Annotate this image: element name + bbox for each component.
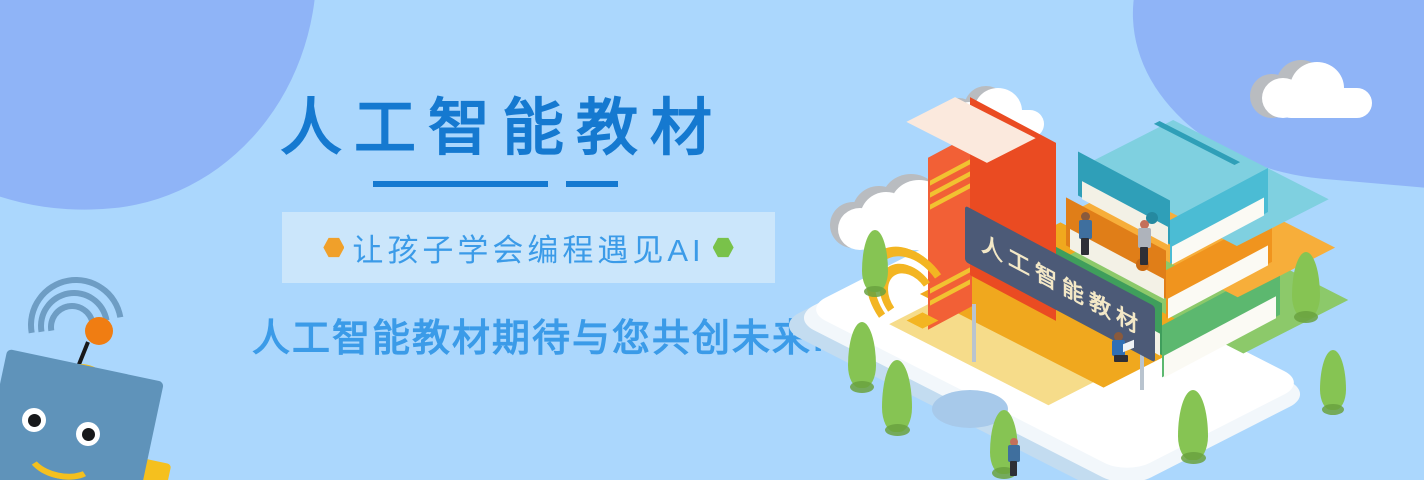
robot-icon xyxy=(0,246,190,480)
sign-leg-left xyxy=(972,304,976,362)
robot-pupil-left xyxy=(28,414,41,427)
divider-gap xyxy=(548,181,566,187)
hexagon-orange-icon xyxy=(323,237,344,258)
hexagon-green-icon xyxy=(713,237,734,258)
tagline-text: 人工智能教材期待与您共创未来! xyxy=(252,320,852,358)
subtitle-banner: 让孩子学会编程遇见AI xyxy=(282,212,775,283)
page-title: 人工智能教材 xyxy=(280,98,750,160)
cloud-icon xyxy=(1250,56,1390,126)
subtitle-text: 让孩子学会编程遇见AI xyxy=(344,225,712,270)
isometric-illustration: 人工智能教材 xyxy=(820,60,1424,480)
robot-antenna-ball xyxy=(85,317,113,345)
hero-banner: 人工智能教材 让孩子学会编程遇见AI 人工智能教材期待与您共创未来! xyxy=(0,0,1424,480)
title-divider xyxy=(373,181,618,187)
divider-bar-long xyxy=(373,181,548,187)
divider-bar-short xyxy=(566,181,618,187)
